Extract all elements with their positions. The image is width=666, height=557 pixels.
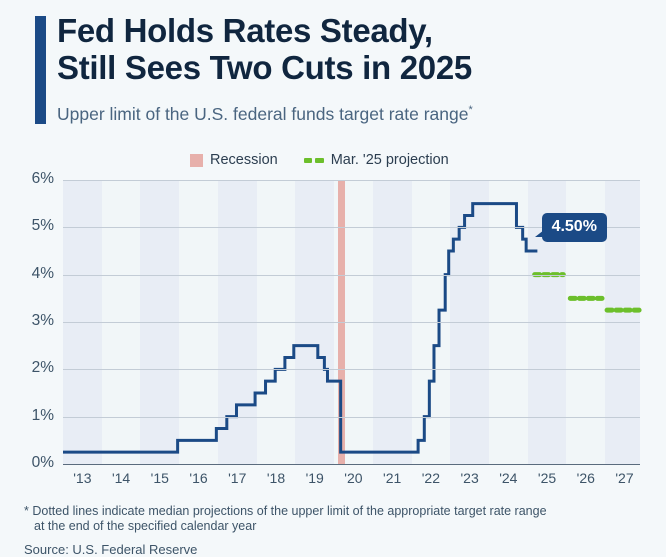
y-tick-label-2: 2% [8,359,54,377]
y-tick-label-4: 4% [8,265,54,283]
subtitle-text: Upper limit of the U.S. federal funds ta… [57,104,468,124]
y-tick-label-3: 3% [8,312,54,330]
y-tick-label-5: 5% [8,217,54,235]
plot-area: 0%1%2%3%4%5%6% 4.50% '13'14'15'16'17'18'… [0,170,666,490]
x-tick-label-9: '22 [422,470,440,486]
recession-swatch-icon [190,154,203,167]
x-tick-label-14: '27 [615,470,633,486]
chart-subtitle: Upper limit of the U.S. federal funds ta… [57,104,657,125]
series-line-0 [63,204,537,453]
legend-label-recession: Recession [210,152,278,168]
gridline-6 [63,180,640,181]
x-axis-labels: '13'14'15'16'17'18'19'20'21'22'23'24'25'… [63,470,640,492]
source-label: Source: U.S. Federal Reserve [24,542,654,557]
legend-item-recession[interactable]: Recession [190,152,278,168]
x-tick-label-5: '18 [267,470,285,486]
x-tick-label-10: '23 [460,470,478,486]
gridline-4 [63,275,640,276]
y-tick-label-6: 6% [8,170,54,188]
footnote-line-1: * Dotted lines indicate median projectio… [24,504,547,518]
x-tick-label-2: '15 [151,470,169,486]
chart-card: Fed Holds Rates Steady, Still Sees Two C… [0,0,666,557]
y-tick-label-1: 1% [8,407,54,425]
legend-item-projection[interactable]: Mar. '25 projection [304,152,449,168]
footnote-line-2: at the end of the specified calendar yea… [24,519,654,534]
page-title: Fed Holds Rates Steady, Still Sees Two C… [57,12,647,86]
x-tick-label-12: '25 [538,470,556,486]
y-tick-label-0: 0% [8,454,54,472]
title-accent-bar [35,16,46,124]
chart-legend: Recession Mar. '25 projection [190,150,449,170]
gridline-2 [63,369,640,370]
footnote: * Dotted lines indicate median projectio… [24,504,654,534]
x-tick-label-6: '19 [306,470,324,486]
x-tick-label-4: '17 [228,470,246,486]
gridline-3 [63,322,640,323]
title-line-2: Still Sees Two Cuts in 2025 [57,49,647,86]
legend-label-projection: Mar. '25 projection [331,152,449,168]
x-tick-label-7: '20 [344,470,362,486]
value-callout: 4.50% [542,213,607,242]
gridline-0 [63,464,640,465]
x-tick-label-8: '21 [383,470,401,486]
x-tick-label-3: '16 [189,470,207,486]
title-line-1: Fed Holds Rates Steady, [57,12,433,49]
x-tick-label-1: '14 [112,470,130,486]
plot-canvas: 4.50% [63,180,640,464]
chart-header: Fed Holds Rates Steady, Still Sees Two C… [0,0,666,142]
x-tick-label-13: '26 [577,470,595,486]
gridline-1 [63,417,640,418]
subtitle-footnote-marker: * [468,104,472,116]
projection-swatch-icon [304,158,324,163]
x-tick-label-11: '24 [499,470,517,486]
chart-footer: * Dotted lines indicate median projectio… [24,504,654,557]
x-tick-label-0: '13 [73,470,91,486]
